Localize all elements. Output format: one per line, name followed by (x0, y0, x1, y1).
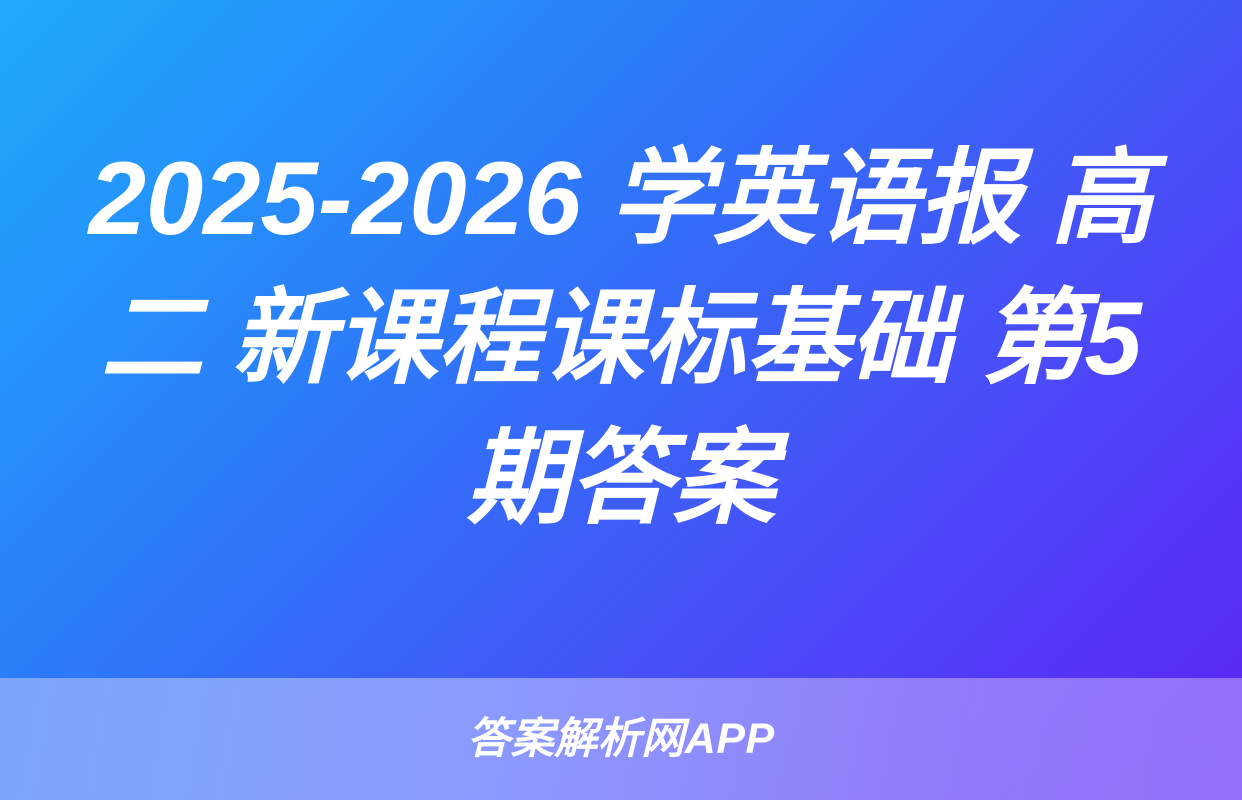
headline-school-year: 2025-2026 (89, 141, 581, 257)
answer-poster: 2025-2026 学英语报 高二 新课程课标基础 第5期答案 答案解析网APP (0, 0, 1242, 800)
headline-publication: 学英语报 (610, 141, 1022, 257)
headline-space-3 (203, 281, 232, 397)
headline-space-2 (1022, 141, 1051, 257)
watermark-app-name: 答案解析网APP (467, 714, 774, 764)
headline-edition: 新课程课标基础 (232, 281, 953, 397)
headline-space-4 (953, 281, 982, 397)
headline-block: 2025-2026 学英语报 高二 新课程课标基础 第5期答案 (0, 0, 1242, 678)
page-title: 2025-2026 学英语报 高二 新课程课标基础 第5期答案 (76, 129, 1167, 549)
watermark-band: 答案解析网APP (0, 678, 1242, 800)
headline-space-1 (581, 141, 610, 257)
